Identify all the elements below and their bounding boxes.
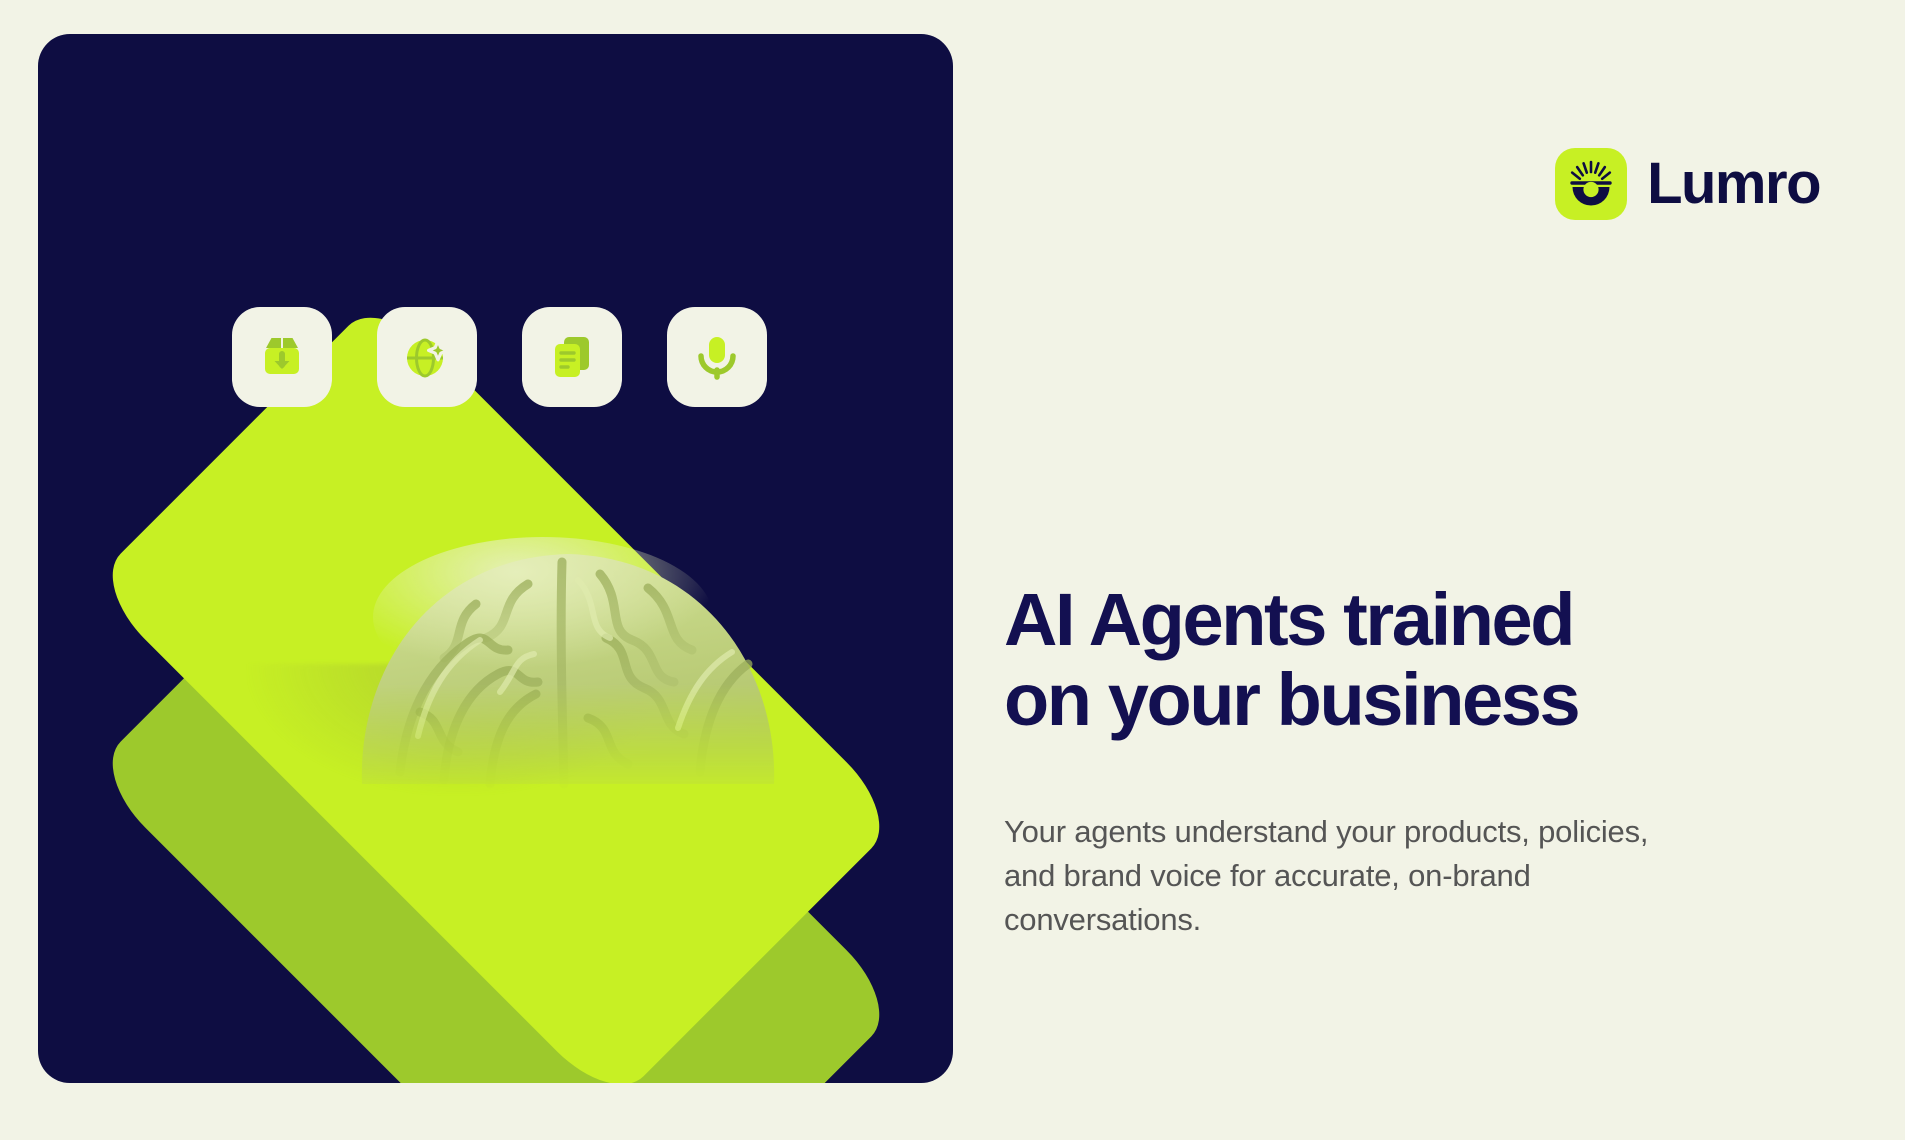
sunrise-icon <box>1555 148 1627 220</box>
headline-line-2: on your business <box>1004 660 1764 740</box>
tile-product-import[interactable] <box>232 307 332 407</box>
documents-icon <box>544 329 600 385</box>
microphone-icon <box>689 329 745 385</box>
tile-voice[interactable] <box>667 307 767 407</box>
brand-lockup[interactable]: Lumro <box>1555 148 1820 220</box>
page-title: AI Agents trained on your business <box>1004 580 1764 740</box>
headline-line-1: AI Agents trained <box>1004 580 1764 660</box>
hero-content: Lumro AI Agents trained on your business… <box>1004 0 1864 1140</box>
brain-illustration <box>348 522 788 802</box>
globe-sparkle-icon <box>399 329 455 385</box>
hero-section: Lumro AI Agents trained on your business… <box>0 0 1905 1140</box>
package-download-icon <box>254 329 310 385</box>
visual-card <box>38 34 953 1083</box>
tile-documents[interactable] <box>522 307 622 407</box>
tile-global-ai[interactable] <box>377 307 477 407</box>
description-line-2: and brand voice for accurate, on-brand <box>1004 854 1804 898</box>
description-line-1: Your agents understand your products, po… <box>1004 810 1804 854</box>
feature-icon-row <box>232 307 767 407</box>
description-line-3: conversations. <box>1004 898 1804 942</box>
brand-name: Lumro <box>1647 155 1820 213</box>
page-description: Your agents understand your products, po… <box>1004 810 1804 942</box>
